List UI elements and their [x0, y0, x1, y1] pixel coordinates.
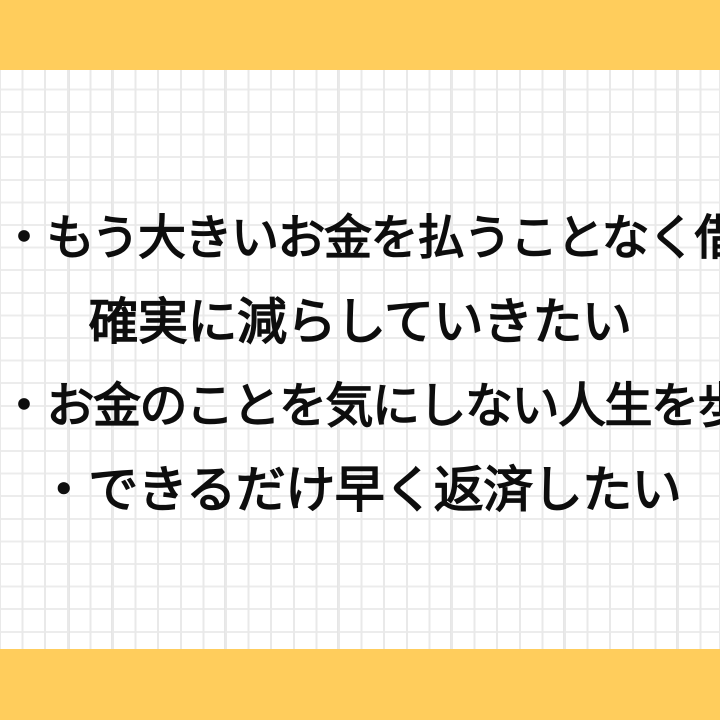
- bottom-accent-band: [0, 649, 720, 720]
- top-accent-band: [0, 0, 720, 70]
- bullet-text-block: ・もう大きいお金を払うことなく借金を 確実に減らしていきたい ・お金のことを気に…: [0, 196, 720, 532]
- text-line-1: ・もう大きいお金を払うことなく借金を: [0, 196, 720, 280]
- text-line-3: ・お金のことを気にしない人生を歩みたい: [0, 364, 720, 448]
- text-line-4: ・できるだけ早く返済したい: [0, 448, 720, 532]
- slide-canvas: ・もう大きいお金を払うことなく借金を 確実に減らしていきたい ・お金のことを気に…: [0, 0, 720, 720]
- text-line-2: 確実に減らしていきたい: [0, 280, 720, 364]
